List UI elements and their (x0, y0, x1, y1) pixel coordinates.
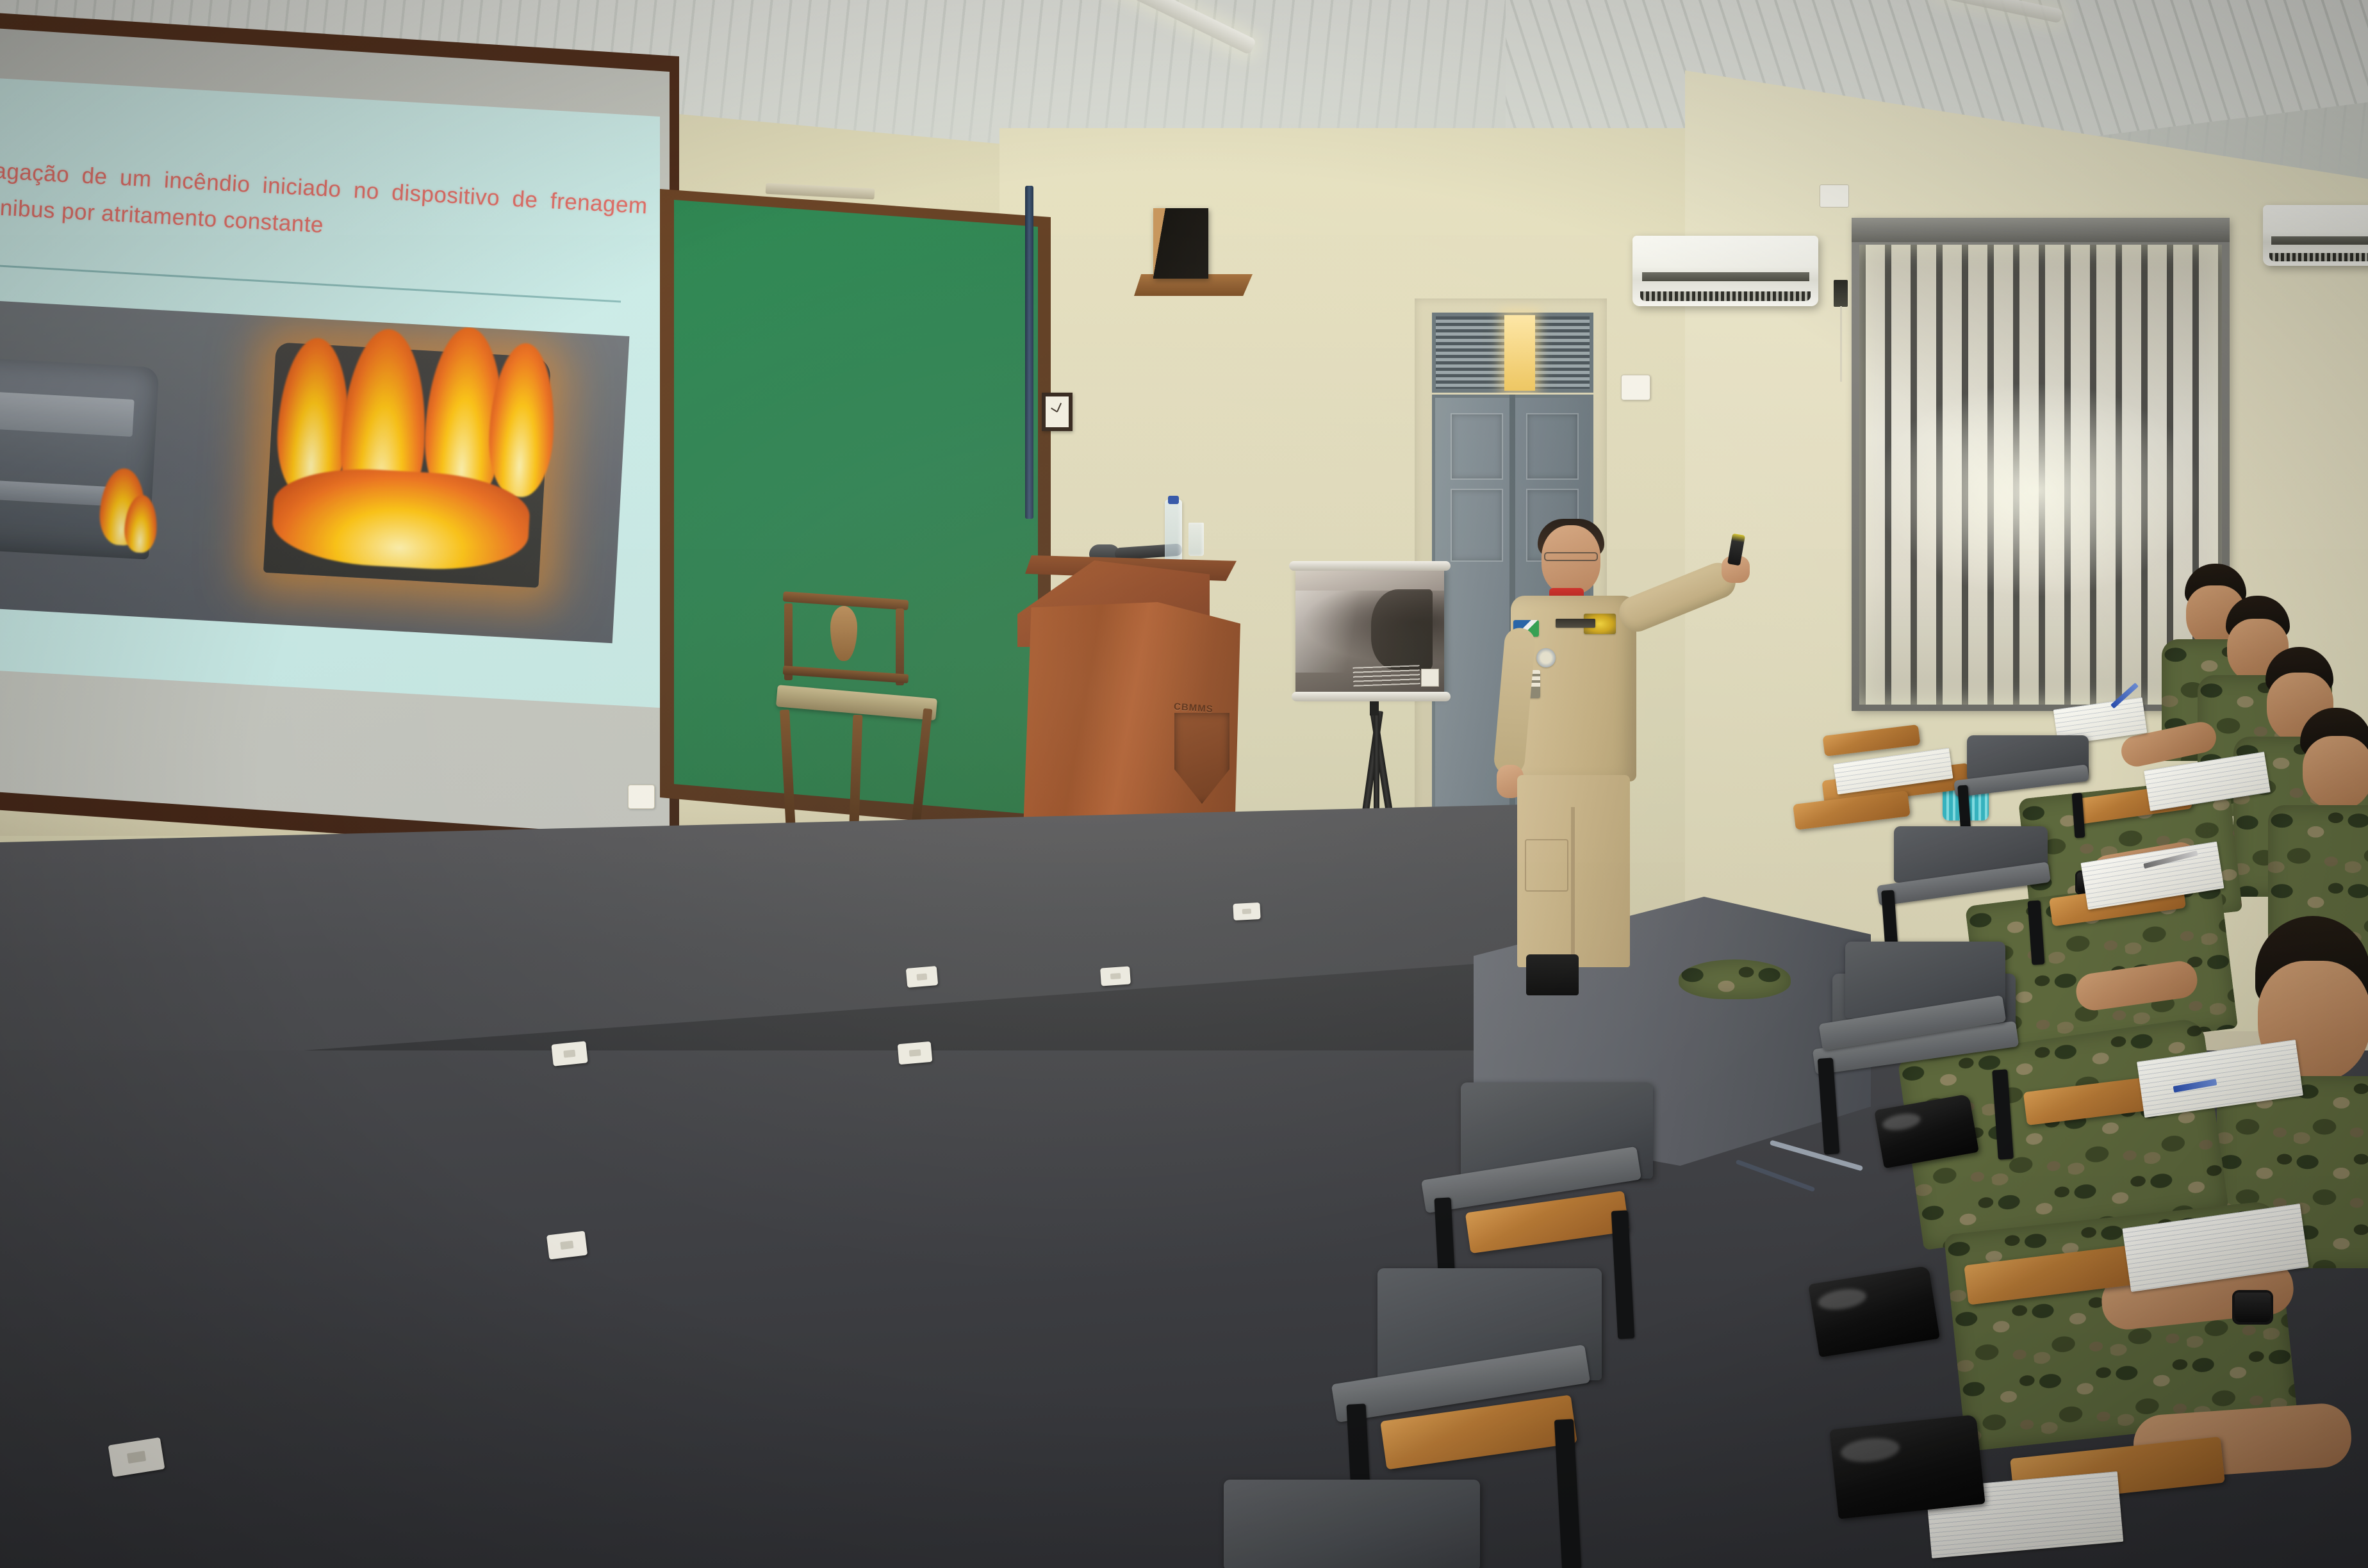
chair-leg-back (912, 708, 933, 824)
split-air-conditioner-2 (2263, 205, 2368, 266)
wristwatch (2235, 1293, 2271, 1322)
wall-outlet[interactable] (1621, 375, 1650, 400)
drinking-glass[interactable] (1188, 523, 1204, 556)
wall-outlet-left[interactable] (628, 785, 655, 809)
poster-logo (1421, 669, 1439, 687)
chair-leg (2072, 793, 2085, 838)
presenter-leg-seam (1571, 807, 1575, 967)
split-air-conditioner (1632, 236, 1818, 306)
door-inset-panel (1451, 413, 1503, 480)
wall-clock (1042, 393, 1073, 431)
poster-bottom-bar (1292, 692, 1451, 701)
wall-speaker (1153, 208, 1208, 279)
door-inset-panel (1526, 413, 1579, 480)
water-bottle[interactable] (1165, 500, 1182, 562)
chair-cross-rail (783, 666, 909, 683)
slide-divider-rule (0, 256, 621, 302)
poster-top-bar (1289, 561, 1451, 571)
floor-outlet[interactable] (898, 1041, 933, 1065)
transom-daylight-glow (1504, 315, 1535, 391)
wooden-side-chair[interactable] (769, 596, 948, 845)
auditorium-chair-near[interactable] (1172, 1480, 1531, 1568)
blinds-headrail[interactable] (1852, 218, 2230, 242)
bottle-cap (1168, 496, 1179, 504)
poster-caption-text (1353, 665, 1420, 687)
slide-title-text: Ilustração propagação de um incêndio ini… (0, 145, 648, 261)
projected-slide: Ilustração propagação de um incêndio ini… (0, 77, 660, 727)
presenter-boot (1526, 954, 1579, 995)
wall-conduit-pipe (1025, 186, 1033, 519)
name-tag (1556, 619, 1595, 628)
presenter-instructor[interactable] (1474, 506, 1775, 1038)
floor-outlet[interactable] (1100, 966, 1131, 986)
ac-thermostat-box[interactable] (1834, 280, 1848, 307)
chair-leg-front-left (780, 710, 796, 832)
poster-subject-silhouette (1371, 589, 1433, 670)
floor-outlet[interactable] (1233, 902, 1260, 920)
combat-boot (1829, 1414, 1985, 1519)
ceiling-sensor-plate (1820, 184, 1849, 208)
presenter-cargo-pocket (1525, 839, 1568, 892)
unit-round-patch-icon (1536, 648, 1556, 667)
auditorium-chair[interactable] (1820, 942, 2031, 1134)
floor-outlet[interactable] (906, 966, 938, 988)
chair-backrest (1224, 1480, 1480, 1568)
auditorium-scene: Ilustração propagação de um incêndio ini… (0, 0, 2368, 1568)
presenter-glasses (1544, 552, 1598, 561)
ac-cable (1840, 306, 1842, 382)
floor-outlet[interactable] (547, 1230, 588, 1259)
floor-outlet[interactable] (551, 1041, 588, 1066)
chair-leg (1554, 1419, 1581, 1568)
head-face (2303, 736, 2368, 810)
chair-splat (830, 606, 857, 661)
slide-photo-pair (0, 292, 629, 643)
